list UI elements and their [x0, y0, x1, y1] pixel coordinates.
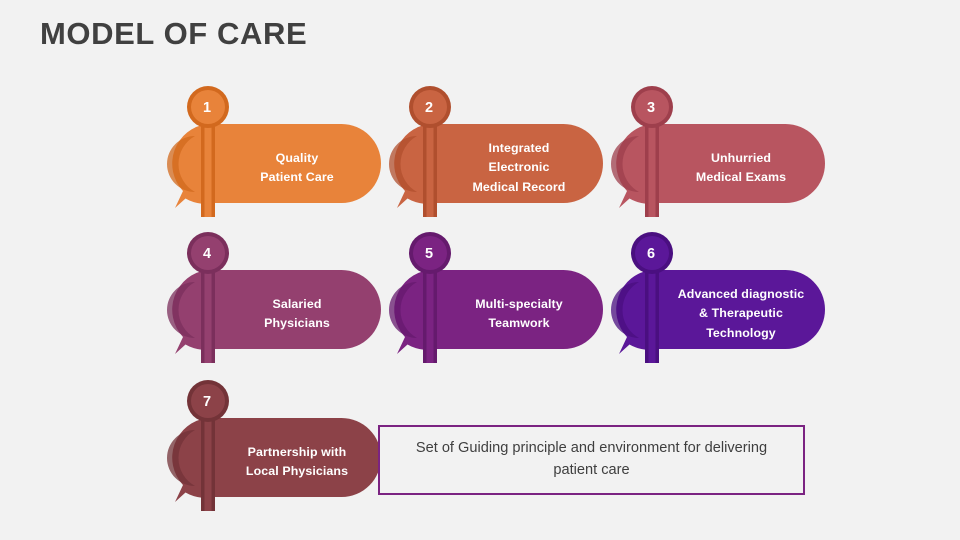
pin-number-disc: [413, 236, 447, 270]
model-item-3[interactable]: 3UnhurriedMedical Exams: [601, 86, 825, 221]
model-item-2[interactable]: 2IntegratedElectronicMedical Record: [379, 86, 603, 221]
pin-marker-shape: [157, 380, 381, 515]
model-item-6[interactable]: 6Advanced diagnostic& TherapeuticTechnol…: [601, 232, 825, 367]
page-title: MODEL OF CARE: [40, 16, 307, 52]
pin-number-disc: [191, 90, 225, 124]
slide-canvas: MODEL OF CARE 1QualityPatient Care2Integ…: [0, 0, 960, 540]
model-item-5[interactable]: 5Multi-specialtyTeamwork: [379, 232, 603, 367]
pin-number-disc: [635, 236, 669, 270]
pin-marker-shape: [157, 232, 381, 367]
pin-number-disc: [635, 90, 669, 124]
pin-marker-shape: [601, 86, 825, 221]
guiding-principle-caption-box: Set of Guiding principle and environment…: [378, 425, 805, 495]
pin-number-disc: [191, 236, 225, 270]
pin-marker-shape: [379, 86, 603, 221]
pin-number-disc: [413, 90, 447, 124]
model-item-7[interactable]: 7Partnership withLocal Physicians: [157, 380, 381, 515]
caption-text: Set of Guiding principle and environment…: [380, 438, 803, 482]
pin-marker-shape: [379, 232, 603, 367]
model-item-1[interactable]: 1QualityPatient Care: [157, 86, 381, 221]
model-item-4[interactable]: 4SalariedPhysicians: [157, 232, 381, 367]
pin-number-disc: [191, 384, 225, 418]
pin-marker-shape: [601, 232, 825, 367]
pin-marker-shape: [157, 86, 381, 221]
